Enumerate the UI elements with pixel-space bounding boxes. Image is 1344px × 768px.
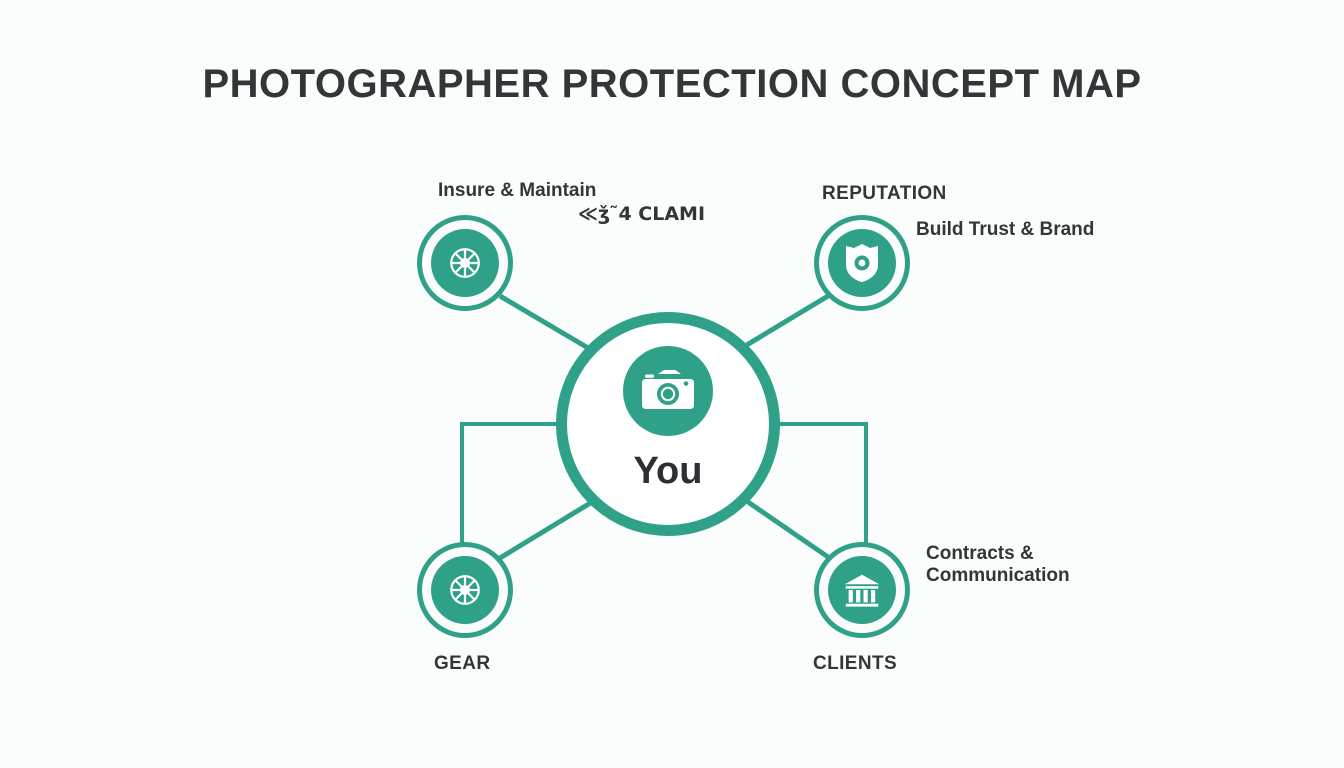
edge-bracket-left — [462, 424, 556, 547]
node-gear-top-disc — [431, 229, 499, 297]
camera-icon — [639, 366, 697, 416]
label-clients: CLIENTS — [813, 653, 897, 675]
bank-building-icon — [841, 569, 883, 611]
concept-map-canvas: PHOTOGRAPHER PROTECTION CONCEPT MAP — [0, 0, 1344, 768]
shield-badge-icon — [842, 241, 882, 285]
hub-disc — [623, 346, 713, 436]
node-reputation[interactable] — [814, 215, 910, 311]
aperture-icon — [443, 568, 487, 612]
label-gear-top: Insure & Maintain — [438, 180, 596, 202]
label-clients-sublabel: Contracts & Communication — [926, 543, 1070, 588]
node-gear-top[interactable] — [417, 215, 513, 311]
node-gear[interactable] — [417, 542, 513, 638]
node-gear-disc — [431, 556, 499, 624]
node-clients[interactable] — [814, 542, 910, 638]
label-reputation-sublabel: Build Trust & Brand — [916, 219, 1094, 241]
label-gear-top-sublabel: ≪ǯ˜4 CLAMI — [578, 203, 705, 225]
hub-label: You — [556, 450, 780, 493]
edge-bracket-right — [780, 424, 866, 547]
node-clients-disc — [828, 556, 896, 624]
node-reputation-disc — [828, 229, 896, 297]
label-gear: GEAR — [434, 653, 491, 675]
aperture-icon — [443, 241, 487, 285]
node-hub-you[interactable]: You — [556, 312, 780, 536]
label-reputation: REPUTATION — [822, 183, 947, 205]
